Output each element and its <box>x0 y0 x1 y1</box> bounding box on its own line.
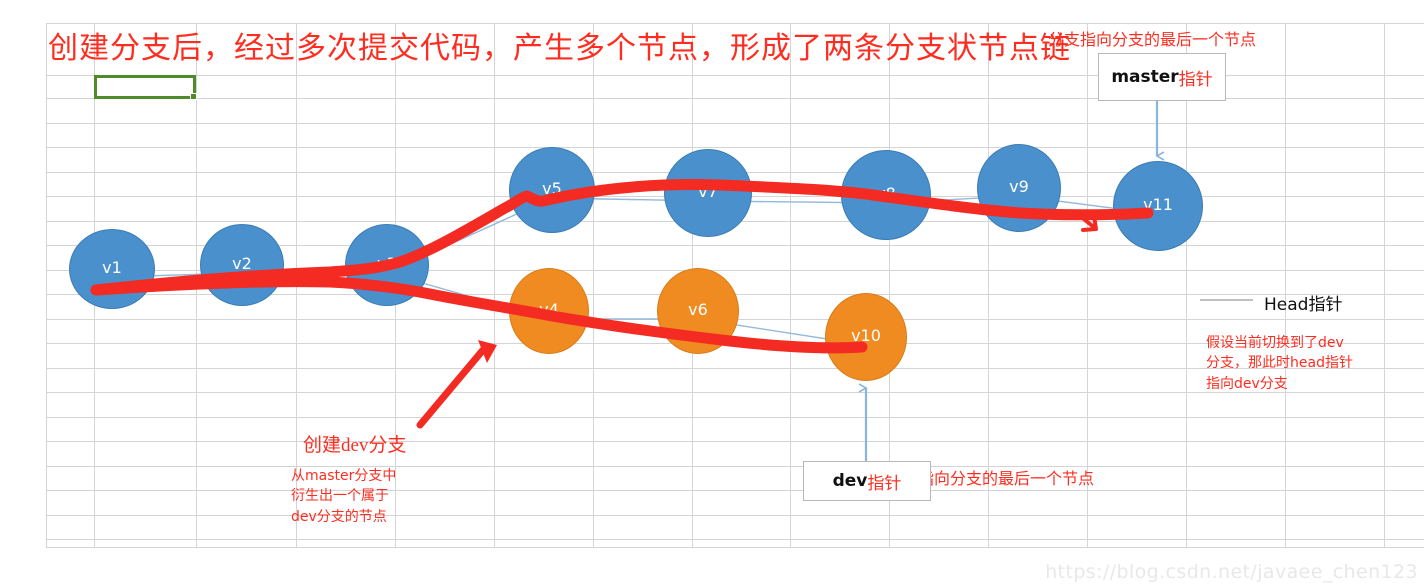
create-dev-body: 从master分支中 衍生出一个属于 dev分支的节点 <box>291 466 396 527</box>
head-note: 假设当前切换到了dev 分支，那此时head指针 指向dev分支 <box>1206 333 1353 394</box>
master-pointer-key: master <box>1111 67 1178 87</box>
diagram-canvas: v1v2v3v5v7v8v9v11v4v6v10 <box>0 0 1424 587</box>
selected-cell[interactable] <box>94 75 196 99</box>
fill-handle[interactable] <box>190 93 197 100</box>
watermark: https://blog.csdn.net/javaee_chen123 <box>1045 561 1418 583</box>
dev-pointer-suffix: 指针 <box>867 469 901 494</box>
create-dev-title: 创建dev分支 <box>303 434 406 458</box>
red-arrow-to-v4 <box>420 340 497 425</box>
dev-pointer-box[interactable]: dev指针 <box>803 461 931 501</box>
dev-pointer-key: dev <box>833 471 868 491</box>
master-pointer-box[interactable]: master指针 <box>1098 53 1226 101</box>
master-pointer-suffix: 指针 <box>1179 65 1213 90</box>
head-pointer-label: Head指针 <box>1264 290 1342 315</box>
master-chain-stroke <box>96 185 1148 290</box>
main-annotation-title: 创建分支后，经过多次提交代码，产生多个节点，形成了两条分支状节点链 <box>48 30 1071 68</box>
master-branch-note: 分支指向分支的最后一个节点 <box>1048 31 1256 51</box>
dev-chain-stroke <box>96 282 862 348</box>
